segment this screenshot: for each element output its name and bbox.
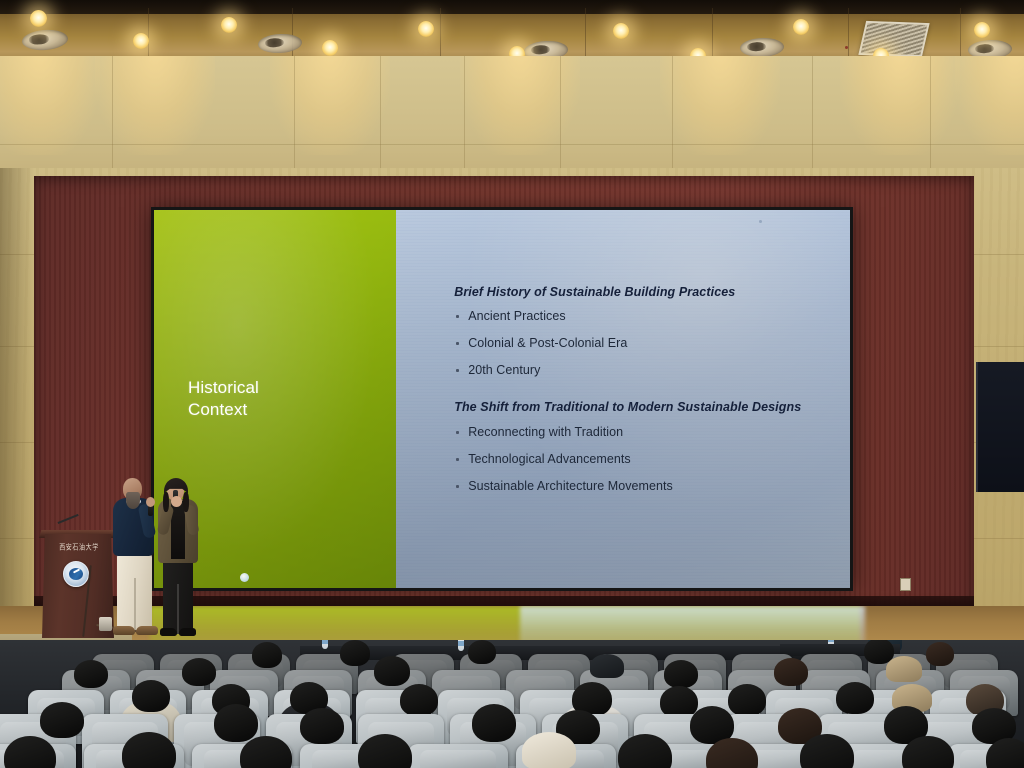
slide-corner-logo-icon: [240, 573, 249, 582]
bullet-item: Technological Advancements: [454, 452, 824, 467]
audience-head: [74, 660, 108, 688]
content-block-2: The Shift from Traditional to Modern Sus…: [454, 399, 824, 494]
seat[interactable]: [408, 744, 508, 768]
audience-head: [926, 642, 954, 666]
audience-head: [214, 704, 258, 742]
ceiling-downlight-icon: [418, 21, 434, 37]
speaker-left-beard: [126, 492, 140, 509]
audience-head: [836, 682, 874, 714]
ceiling-downlight-icon: [793, 19, 809, 35]
audience-head: [472, 704, 516, 742]
bullet-item: Reconnecting with Tradition: [454, 425, 824, 440]
slide-content: Brief History of Sustainable Building Pr…: [396, 210, 850, 494]
water-bottle-icon: [322, 640, 328, 649]
audience-head: [468, 640, 496, 664]
speaker-left-shoe: [136, 626, 158, 635]
speaker-right-shoe: [160, 628, 177, 636]
audience-head: [300, 708, 344, 744]
audience-cap-icon: [590, 654, 624, 678]
audience-area: [0, 640, 1024, 768]
bullet-list-2: Reconnecting with Tradition Technologica…: [454, 425, 824, 494]
auditorium-scene: Historical Context Brief History of Sust…: [0, 0, 1024, 768]
slide-content-panel: Brief History of Sustainable Building Pr…: [396, 210, 850, 588]
audience-head: [774, 658, 808, 686]
spot-fixture-icon: [21, 28, 68, 51]
ceiling-downlight-icon: [221, 17, 237, 33]
audience-head: [340, 640, 370, 666]
wall-switch[interactable]: [900, 578, 911, 591]
university-crest-icon: [63, 561, 89, 587]
section-heading-1: Brief History of Sustainable Building Pr…: [454, 284, 824, 300]
speaker-left-hand: [146, 497, 155, 507]
projection-screen: Historical Context Brief History of Sust…: [151, 207, 853, 591]
spot-fixture-icon: [258, 33, 303, 54]
ceiling-downlight-icon: [613, 23, 629, 39]
slide-title: Historical Context: [154, 377, 259, 422]
bullet-item: Ancient Practices: [454, 309, 824, 324]
audience-head: [728, 684, 766, 716]
ceiling-downlight-icon: [30, 10, 47, 27]
spot-fixture-icon: [740, 37, 785, 58]
podium-university-name: 西安石油大学: [50, 541, 108, 552]
water-bottle-icon: [458, 640, 464, 651]
audience-head: [182, 658, 216, 686]
ceiling: [0, 0, 1024, 60]
bullet-item: 20th Century: [454, 363, 824, 378]
ceiling-downlight-icon: [322, 40, 338, 56]
floor-equipment-box: [99, 617, 112, 631]
upper-wall: [0, 56, 1024, 171]
ceiling-downlight-icon: [974, 22, 990, 38]
audience-head: [664, 660, 698, 688]
audience-head: [40, 702, 84, 738]
bullet-list-1: Ancient Practices Colonial & Post-Coloni…: [454, 309, 824, 378]
audience-head: [400, 684, 438, 716]
section-heading-2: The Shift from Traditional to Modern Sus…: [454, 399, 824, 415]
speaker-left-shoe: [113, 626, 135, 635]
audience-cap-icon: [522, 732, 576, 768]
audience-head: [252, 642, 282, 668]
audience-head: [132, 680, 170, 712]
audience-cap-icon: [886, 656, 922, 682]
screen-speck: [759, 220, 762, 223]
wall-speaker-panel: [976, 362, 1024, 492]
slide-title-line-1: Historical: [188, 377, 259, 399]
bullet-item: Sustainable Architecture Movements: [454, 479, 824, 494]
ceiling-downlight-icon: [133, 33, 149, 49]
slide-title-line-2: Context: [188, 399, 259, 421]
bullet-item: Colonial & Post-Colonial Era: [454, 336, 824, 351]
speaker-right-shoe: [179, 628, 196, 636]
audience-head: [374, 656, 410, 686]
ceiling-dark-band: [0, 0, 1024, 14]
content-block-1: Brief History of Sustainable Building Pr…: [454, 284, 824, 378]
ceiling-vent-grille: [858, 21, 929, 57]
speaker-right-hands: [171, 496, 182, 507]
presentation-slide: Historical Context Brief History of Sust…: [154, 210, 850, 588]
